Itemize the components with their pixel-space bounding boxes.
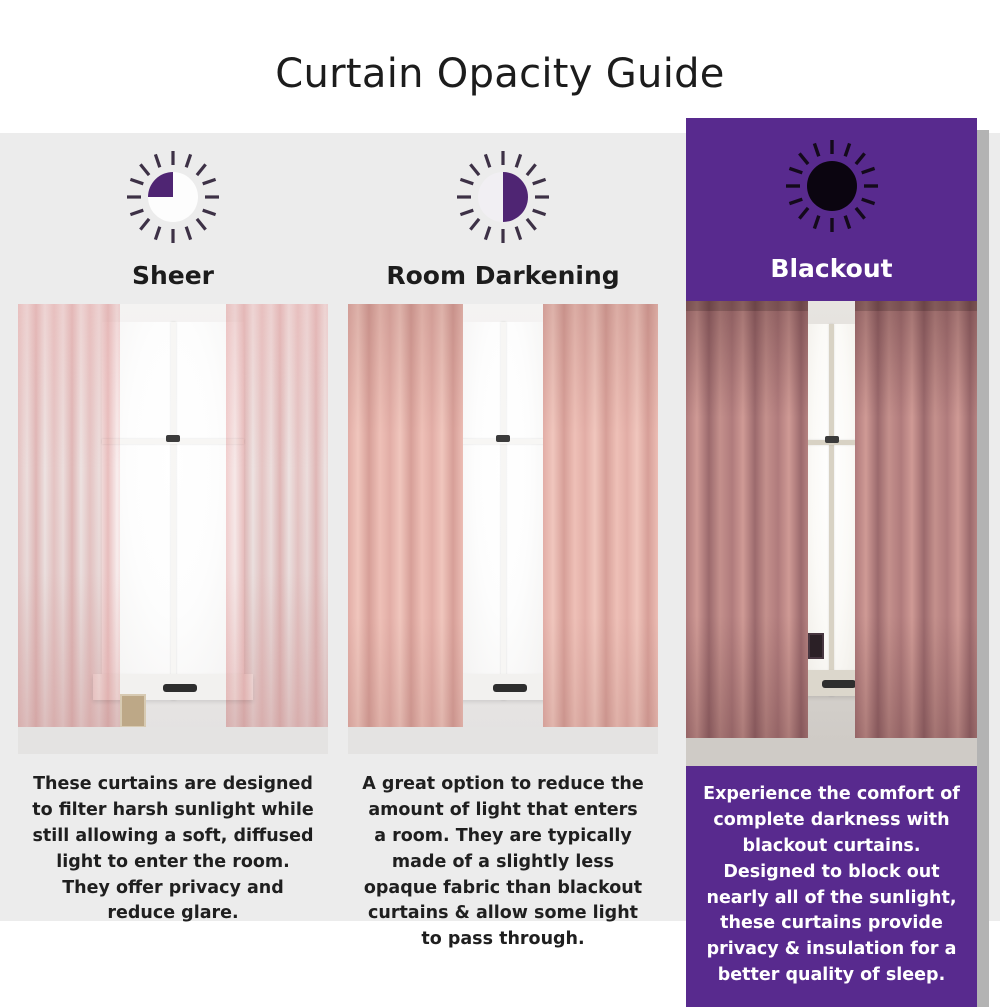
sun-half-icon [455,149,551,245]
sun-half-icon-wrap [348,133,658,261]
sun-quarter-icon-wrap [18,133,328,261]
description-blackout: Experience the comfort of complete darkn… [686,766,977,1007]
category-title-room-darkening: Room Darkening [348,261,658,304]
column-room-darkening[interactable]: Room Darkening A great option to reduce … [348,133,658,953]
photo-sheer [18,304,328,754]
description-sheer: These curtains are designed to filter ha… [18,754,328,927]
photo-blackout [686,301,977,766]
category-title-sheer: Sheer [18,261,328,304]
sun-quarter-icon [125,149,221,245]
category-title-blackout: Blackout [686,254,977,301]
photo-room-darkening [348,304,658,754]
description-room-darkening: A great option to reduce the amount of l… [348,754,658,953]
sun-full-icon [784,138,880,234]
column-sheer[interactable]: Sheer These curtains are designed to fil… [18,133,328,927]
sun-full-icon-wrap [686,118,977,254]
page-title: Curtain Opacity Guide [0,51,1000,97]
column-blackout[interactable]: Blackout Experience the comfort of compl… [686,118,977,1007]
